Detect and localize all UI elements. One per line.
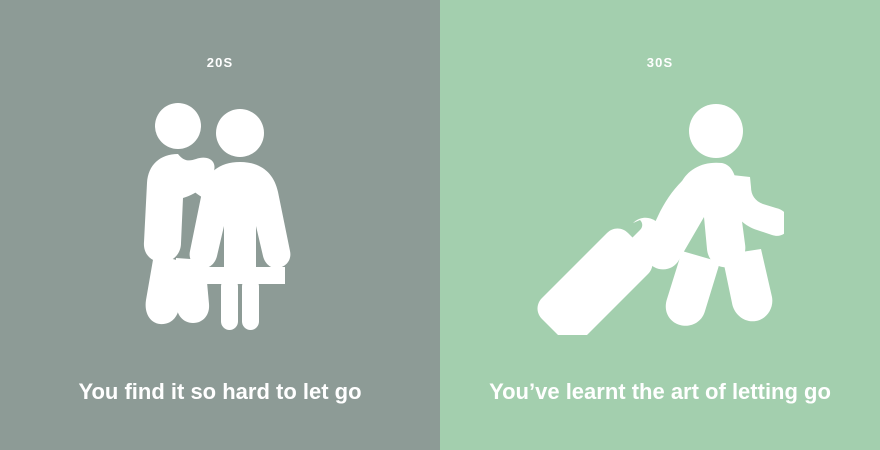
age-label-thirties: 30S (647, 56, 673, 69)
illustration-thirties (440, 69, 880, 380)
comparison-container: 20S (0, 0, 880, 450)
panel-twenties: 20S (0, 0, 440, 450)
illustration-twenties (0, 69, 440, 380)
traveler-with-rolling-suitcase-pictogram (536, 99, 784, 335)
caption-thirties: You’ve learnt the art of letting go (475, 380, 845, 404)
age-label-twenties: 20S (207, 56, 233, 69)
embracing-couple-pictogram (120, 102, 320, 332)
caption-twenties: You find it so hard to let go (64, 380, 375, 404)
panel-thirties: 30S (440, 0, 880, 450)
